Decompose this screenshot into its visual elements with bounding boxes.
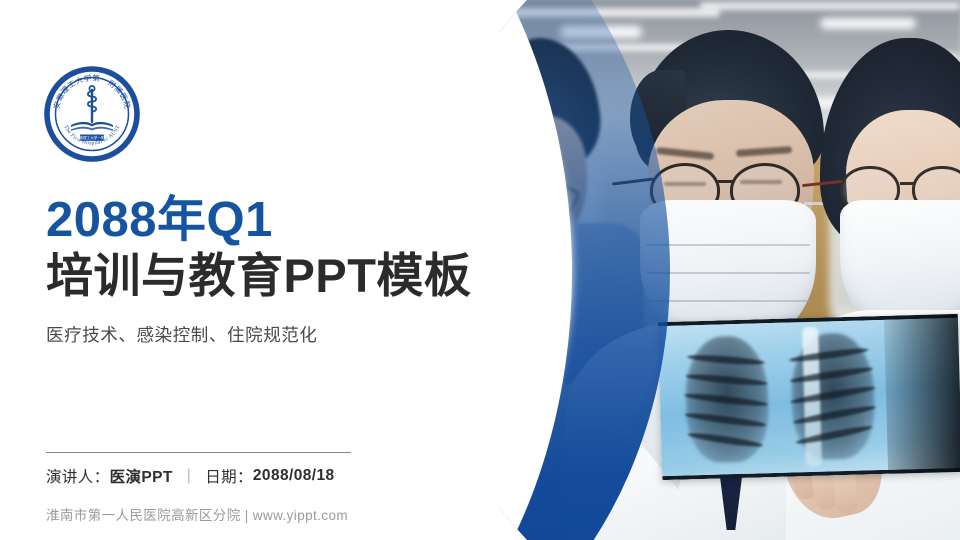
meta-separator: |	[187, 467, 191, 485]
text-panel: 安徽理工大学第一附属医院 The First Hospital of AUST	[0, 0, 430, 540]
title-block: 2088年Q1 培训与教育PPT模板 医疗技术、感染控制、住院规范化	[46, 196, 546, 347]
date-value: 2088/08/18	[253, 467, 335, 485]
ceiling-strip-2	[700, 2, 960, 10]
eyeglasses-bridge	[900, 182, 914, 185]
presenter-value: 医演PPT	[110, 465, 173, 487]
subtitle: 医疗技术、感染控制、住院规范化	[46, 322, 546, 347]
chest-xray-film	[658, 314, 960, 480]
ceiling-strip-1	[420, 8, 720, 17]
mask-pleat-2	[646, 272, 810, 274]
title-line-1: 2088年Q1	[46, 196, 546, 246]
divider-rule	[46, 452, 351, 453]
svg-text:安徽理工大学一附院: 安徽理工大学一附院	[76, 135, 109, 140]
slide-canvas: 安徽理工大学第一附属医院 The First Hospital of AUST	[0, 0, 960, 540]
mask-pleat-3	[646, 300, 810, 302]
presenter-date-row: 演讲人： 医演PPT | 日期： 2088/08/18	[46, 465, 406, 487]
title-line-2: 培训与教育PPT模板	[46, 250, 546, 303]
xray-dark-edge	[884, 314, 960, 474]
presenter-label: 演讲人：	[46, 465, 110, 487]
date-label: 日期：	[205, 465, 253, 487]
ceiling-lamp-2	[820, 18, 916, 29]
eyeglasses-bridge	[717, 180, 735, 183]
meta-block: 演讲人： 医演PPT | 日期： 2088/08/18 淮南市第一人民医院高新区…	[46, 452, 406, 524]
footer-text: 淮南市第一人民医院高新区分院 | www.yippt.com	[46, 504, 406, 524]
mask-pleat-1	[646, 244, 810, 246]
hospital-seal-logo: 安徽理工大学第一附属医院 The First Hospital of AUST	[44, 66, 140, 162]
